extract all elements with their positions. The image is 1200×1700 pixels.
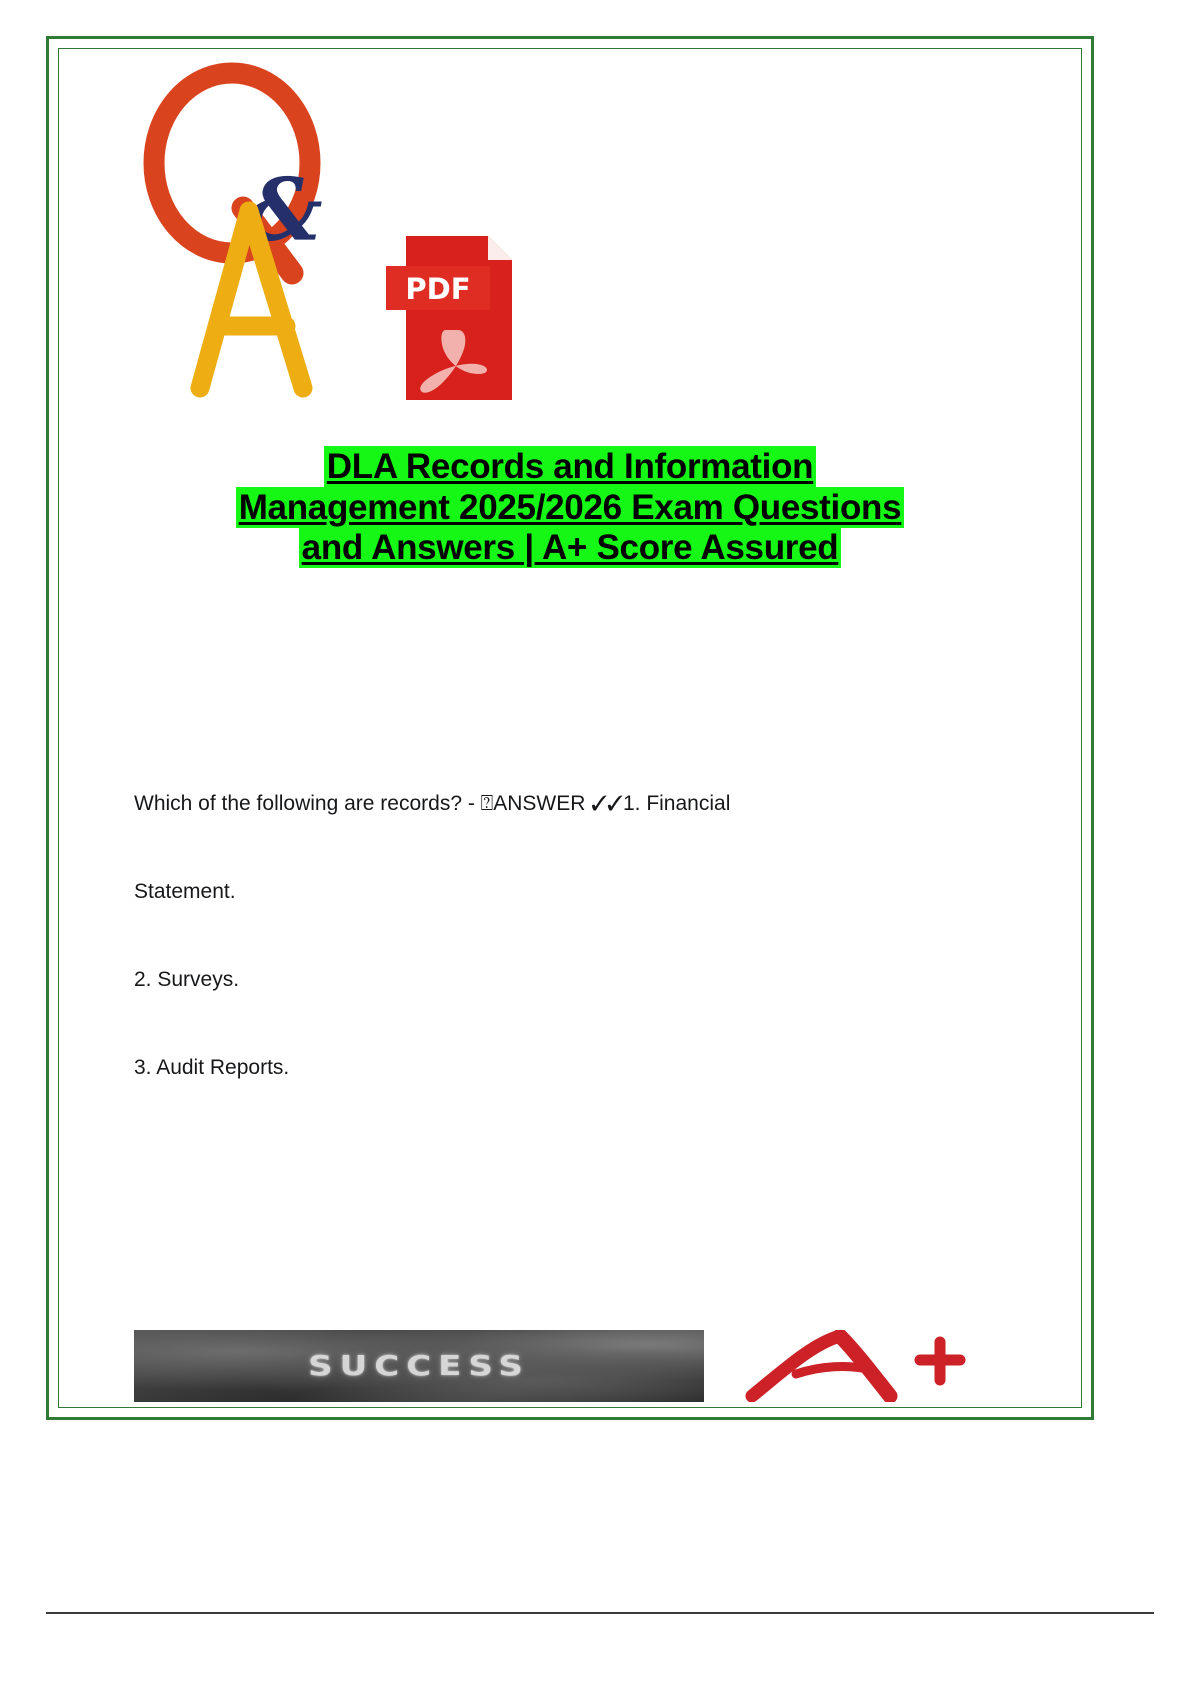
next-page-divider — [46, 1612, 1154, 1614]
title-line-2-text: Management 2025/2026 Exam Questions — [236, 487, 905, 528]
body-line-audit-reports: 3. Audit Reports. — [134, 1057, 1034, 1078]
title-line-1: DLA Records and Information — [58, 448, 1082, 487]
body-line-surveys: 2. Surveys. — [134, 969, 1034, 990]
success-banner-text: SUCCESS — [308, 1350, 530, 1383]
title-line-3-text: and Answers | A+ Score Assured — [299, 527, 842, 568]
svg-text:PDF: PDF — [405, 272, 470, 306]
a-plus-grade-mark — [744, 1330, 994, 1402]
body-line-question: Which of the following are records? - ⍰A… — [134, 793, 1034, 814]
qa-logo: & — [140, 58, 380, 408]
title-line-1-text: DLA Records and Information — [324, 446, 816, 487]
header-graphics: & PDF — [140, 58, 560, 418]
body-line-statement: Statement. — [134, 881, 1034, 902]
document-page: & PDF — [0, 0, 1200, 1700]
title-line-3: and Answers | A+ Score Assured — [58, 529, 1082, 568]
footer-graphics: SUCCESS — [134, 1330, 1034, 1406]
page-title: DLA Records and Information Management 2… — [58, 448, 1082, 570]
title-line-2: Management 2025/2026 Exam Questions — [58, 489, 1082, 528]
question-answer-body: Which of the following are records? - ⍰A… — [134, 793, 1034, 1145]
page-content: & PDF — [58, 48, 1082, 1408]
pdf-file-icon: PDF — [380, 228, 520, 408]
success-chalkboard-banner: SUCCESS — [134, 1330, 704, 1402]
